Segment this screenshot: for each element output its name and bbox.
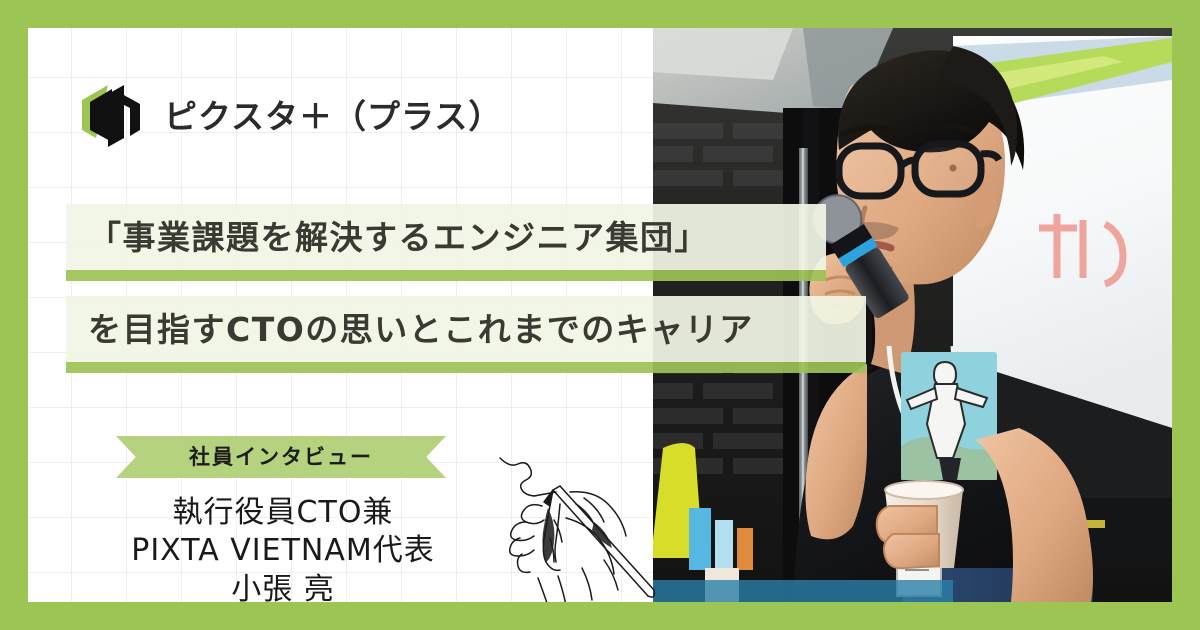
hand-holding-pen-illustration — [498, 448, 678, 602]
og-image-canvas: ピクスタ＋（プラス） 「事業課題を解決するエンジニア集団」 を目指すCTOの思い… — [0, 0, 1200, 630]
interview-category-badge: 社員インタビュー — [116, 436, 446, 478]
headline-underline-line2 — [66, 362, 866, 373]
person-name: 小張 亮 — [68, 571, 498, 602]
headline-band-line1: 「事業課題を解決するエンジニア集団」 — [66, 204, 826, 270]
person-title-line1: 執行役員CTO兼 — [68, 494, 498, 532]
brand-logo: ピクスタ＋（プラス） — [78, 80, 502, 152]
headline-line1-text: 「事業課題を解決するエンジニア集団」 — [88, 221, 709, 254]
headline-band-line2: を目指すCTOの思いとこれまでのキャリア — [66, 296, 866, 362]
headline-underline-line1 — [66, 270, 826, 281]
content-card: ピクスタ＋（プラス） 「事業課題を解決するエンジニア集団」 を目指すCTOの思い… — [28, 28, 1172, 602]
headline-line2-text: を目指すCTOの思いとこれまでのキャリア — [88, 313, 754, 346]
interview-category-label: 社員インタビュー — [189, 447, 373, 468]
pixta-hexagon-logo-icon — [78, 80, 146, 152]
brand-logo-text: ピクスタ＋（プラス） — [164, 100, 502, 133]
person-credit: 執行役員CTO兼 PIXTA VIETNAM代表 小張 亮 — [68, 494, 498, 602]
person-title-line2: PIXTA VIETNAM代表 — [68, 532, 498, 570]
